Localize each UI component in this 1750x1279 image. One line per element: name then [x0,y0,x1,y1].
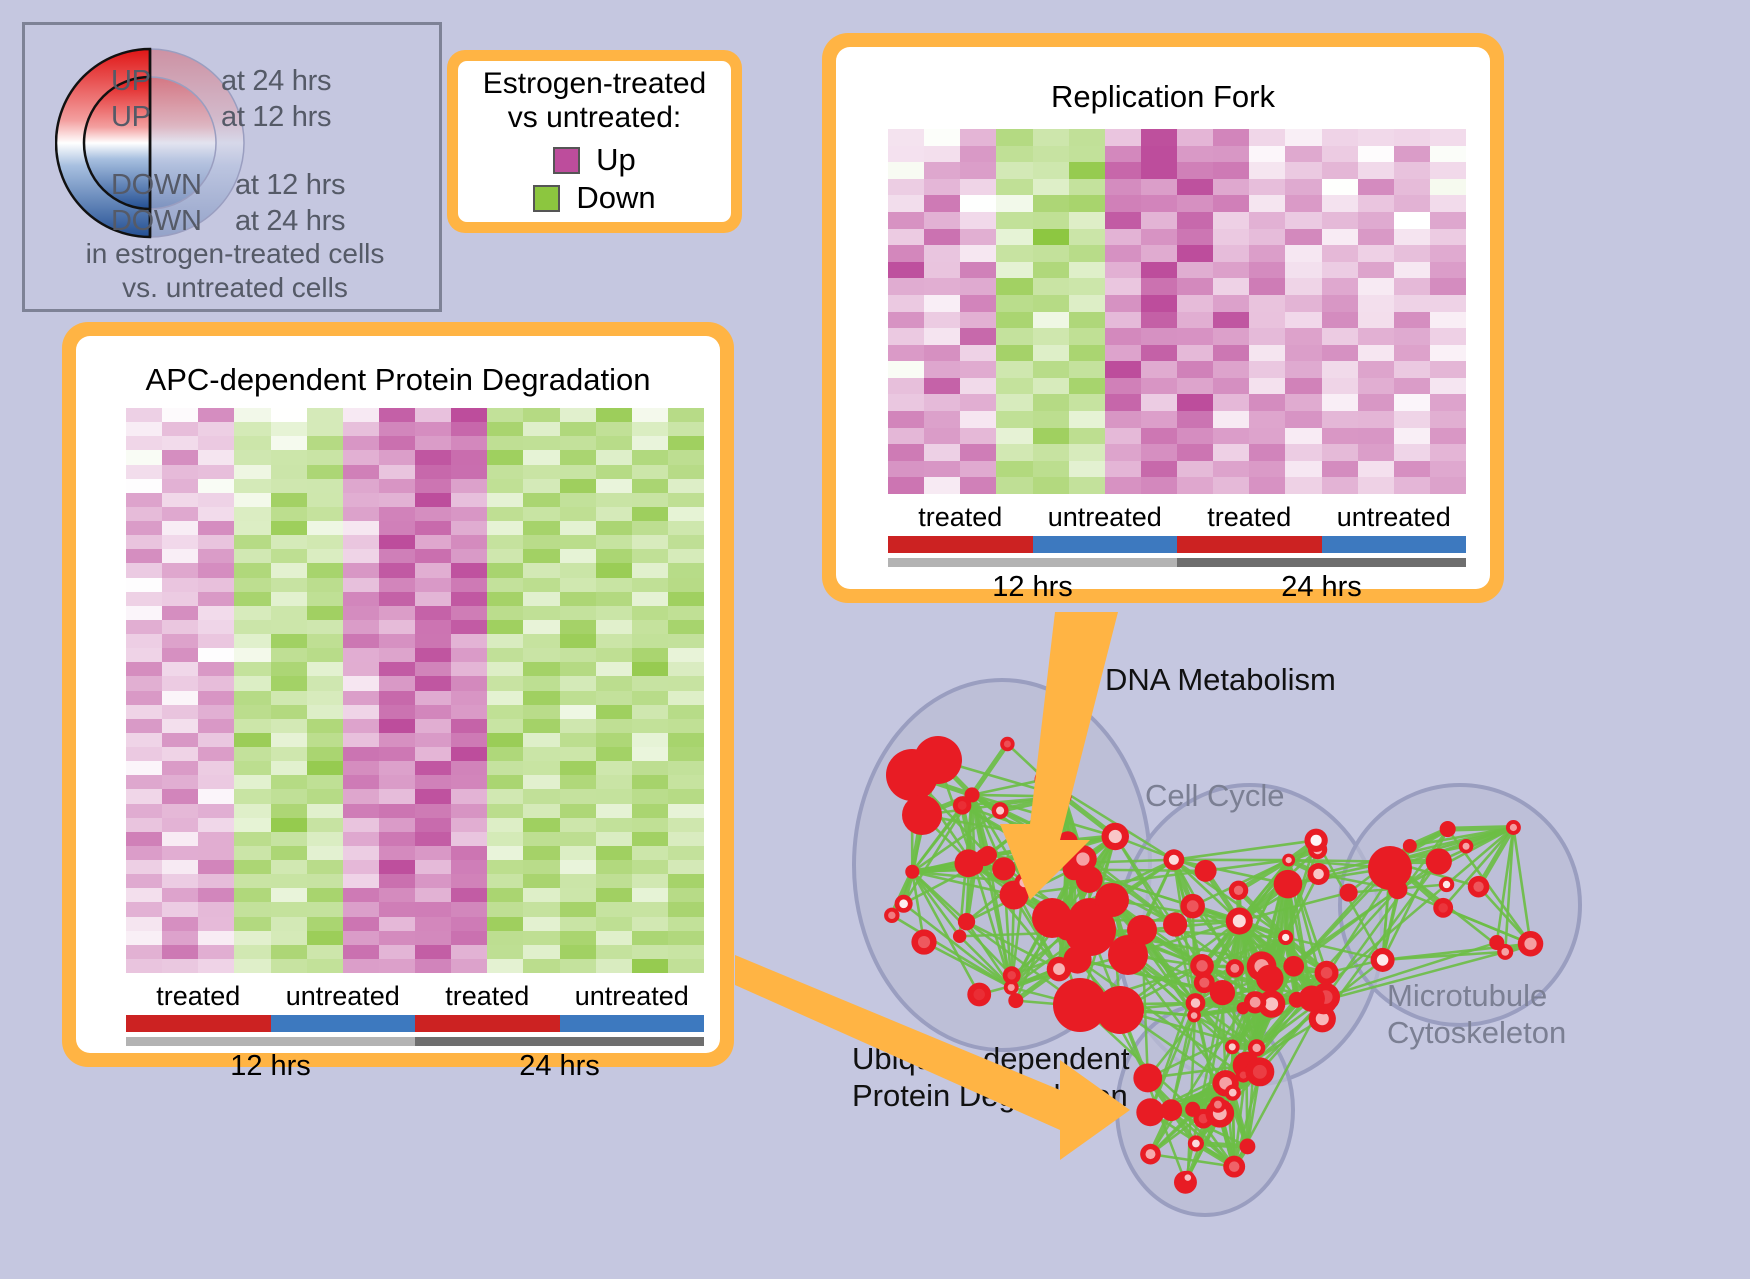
network-node [902,795,942,835]
network-node [1136,1098,1164,1126]
network-node [1055,788,1071,804]
caption-line-1: in estrogen-treated cells [25,237,445,271]
network-node-core [1250,997,1261,1008]
network-node-core [1007,971,1016,980]
updown-legend-card: Estrogen-treated vs untreated: Up Down [447,50,742,233]
colormap-legend-caption: in estrogen-treated cells vs. untreated … [25,237,445,305]
network-node [1076,866,1103,893]
apc-time-labels: 12 hrs 24 hrs [126,1050,704,1083]
network-node-core [1196,960,1207,971]
updown-legend-title: Estrogen-treated vs untreated: [483,67,706,134]
network-node-core [1230,964,1239,973]
network-node-core [1253,1065,1267,1079]
network-node-core [1524,938,1536,950]
network-node [1340,884,1358,902]
network-node-core [1286,857,1292,863]
figure-canvas: UP at 24 hrs UP at 12 hrs DOWN at 12 hrs… [0,0,1750,1279]
network-node-core [1229,1089,1237,1097]
network-node-core [1109,830,1122,843]
caption-line-2: vs. untreated cells [25,271,445,305]
apc-group-colorbar [126,1015,704,1032]
network-node-core [1187,900,1199,912]
network-node-core [1004,741,1011,748]
network-node [914,736,962,784]
network-node-core [1169,855,1179,865]
apc-group-0: treated [126,981,271,1012]
network-node-core [996,807,1004,815]
network-node [1426,848,1452,874]
network-node [1237,1002,1249,1014]
legend-state-3: DOWN [111,205,202,238]
legend-time-3: at 24 hrs [235,205,345,238]
apc-title: APC-dependent Protein Degradation [76,362,720,398]
network-node-core [958,801,967,810]
cluster-label-ubiquitin-protein-degradation: Ubiquitin-dependent Protein Degradation [852,1040,1130,1114]
network-node [1133,1064,1162,1093]
network-node [966,858,983,875]
rf-bar-treated-24 [1177,536,1322,553]
apc-axis: treated untreated treated untreated 12 h [126,981,704,1083]
network-node-core [1443,881,1450,888]
legend-time-2: at 12 hrs [235,169,345,202]
network-node-core [1321,967,1333,979]
network-node [1440,821,1456,837]
legend-item-down: Down [533,180,655,216]
network-node [1185,1102,1200,1117]
network-node-core [1185,1174,1192,1181]
network-node [1035,769,1055,789]
down-swatch-icon [533,185,560,212]
legend-state-2: DOWN [111,169,202,202]
legend-time-1: at 12 hrs [221,101,331,134]
apc-bar-treated-12 [126,1015,271,1032]
network-node-core [1234,886,1243,895]
network-node-core [1473,881,1483,891]
network-node-core [1008,984,1015,991]
rf-group-0: treated [888,502,1033,533]
rf-time-colorbar [888,558,1466,567]
network-node [1127,915,1157,945]
legend-item-up: Up [553,142,636,178]
rf-timebar-12 [888,558,1177,567]
panel-apc-protein-degradation: APC-dependent Protein Degradation treate… [62,322,734,1067]
apc-group-3: untreated [560,981,705,1012]
network-node [992,857,1015,880]
network-node-core [1053,963,1065,975]
rf-bar-treated-12 [888,536,1033,553]
network-node [953,930,966,943]
legend-state-1: UP [111,101,151,134]
apc-time-1: 24 hrs [415,1050,704,1083]
network-node-core [1463,843,1470,850]
network-node [1403,839,1417,853]
updown-title-line-2: vs untreated: [483,101,706,135]
network-node-core [918,936,930,948]
network-node [1256,965,1284,993]
network-node-core [899,899,908,908]
apc-bar-untreated-24 [560,1015,705,1032]
network-node [1289,992,1305,1008]
cluster-label-cell-cycle: Cell Cycle [1145,778,1285,814]
legend-state-0: UP [111,65,151,98]
replication-fork-title: Replication Fork [836,79,1490,115]
network-node-core [1076,852,1089,865]
network-svg [790,600,1740,1279]
apc-bar-treated-24 [415,1015,560,1032]
pathway-network-diagram: DNA Metabolism Cell Cycle Microtubule Cy… [790,600,1740,1279]
network-node [1195,860,1217,882]
rf-timebar-24 [1177,558,1466,567]
legend-time-0: at 24 hrs [221,65,331,98]
rf-group-1: untreated [1033,502,1178,533]
network-node [1008,993,1023,1008]
network-node-core [1229,1043,1236,1050]
network-node-core [1146,1149,1156,1159]
network-node-core [1191,1012,1198,1019]
cluster-label-microtubule-cytoskeleton: Microtubule Cytoskeleton [1387,978,1566,1051]
network-node-core [888,912,895,919]
colormap-legend-box: UP at 24 hrs UP at 12 hrs DOWN at 12 hrs… [22,22,442,312]
network-node-core [1438,903,1448,913]
cluster-label-dna-metabolism: DNA Metabolism [1105,662,1336,698]
up-swatch-icon [553,147,580,174]
up-label: Up [596,142,636,178]
apc-timebar-24 [415,1037,704,1046]
network-node-core [1501,948,1509,956]
network-node [1240,1139,1256,1155]
network-node-core [1377,954,1389,966]
replication-fork-heatmap [888,129,1466,494]
apc-group-1: untreated [271,981,416,1012]
network-node [1274,870,1303,899]
network-node [1096,986,1144,1034]
apc-group-2: treated [415,981,560,1012]
network-node-core [1191,998,1200,1007]
rf-group-colorbar [888,536,1466,553]
network-node-core [1229,1161,1240,1172]
network-node-core [1199,978,1209,988]
network-node-core [1265,997,1278,1010]
network-node-core [1192,1140,1200,1148]
rf-group-3: untreated [1322,502,1467,533]
network-node-core [1510,824,1517,831]
apc-bar-untreated-12 [271,1015,416,1032]
network-node-core [1019,878,1028,887]
network-node-core [1313,869,1324,880]
network-node [1368,846,1412,890]
network-node-core [1311,835,1322,846]
panel-replication-fork: Replication Fork treated untreated treat… [822,33,1504,603]
network-node [1064,904,1116,956]
apc-time-colorbar [126,1037,704,1046]
rf-bar-untreated-24 [1322,536,1467,553]
apc-heatmap [126,408,704,973]
network-node-core [1282,934,1289,941]
network-node [1283,956,1304,977]
network-node [958,913,975,930]
network-node-core [974,989,985,1000]
network-node [1163,913,1187,937]
network-node-core [1214,1101,1222,1109]
rf-group-2: treated [1177,502,1322,533]
apc-group-labels: treated untreated treated untreated [126,981,704,1012]
apc-timebar-12 [126,1037,415,1046]
rf-bar-untreated-12 [1033,536,1178,553]
network-node [979,846,997,864]
network-node-core [1233,915,1246,928]
network-node-core [1252,1044,1260,1052]
down-label: Down [576,180,655,216]
rf-group-labels: treated untreated treated untreated [888,502,1466,533]
network-node [905,865,919,879]
apc-time-0: 12 hrs [126,1050,415,1083]
replication-fork-axis: treated untreated treated untreated 12 h [888,502,1466,604]
colormap-rings: UP at 24 hrs UP at 12 hrs DOWN at 12 hrs… [55,43,245,243]
updown-title-line-1: Estrogen-treated [483,67,706,101]
